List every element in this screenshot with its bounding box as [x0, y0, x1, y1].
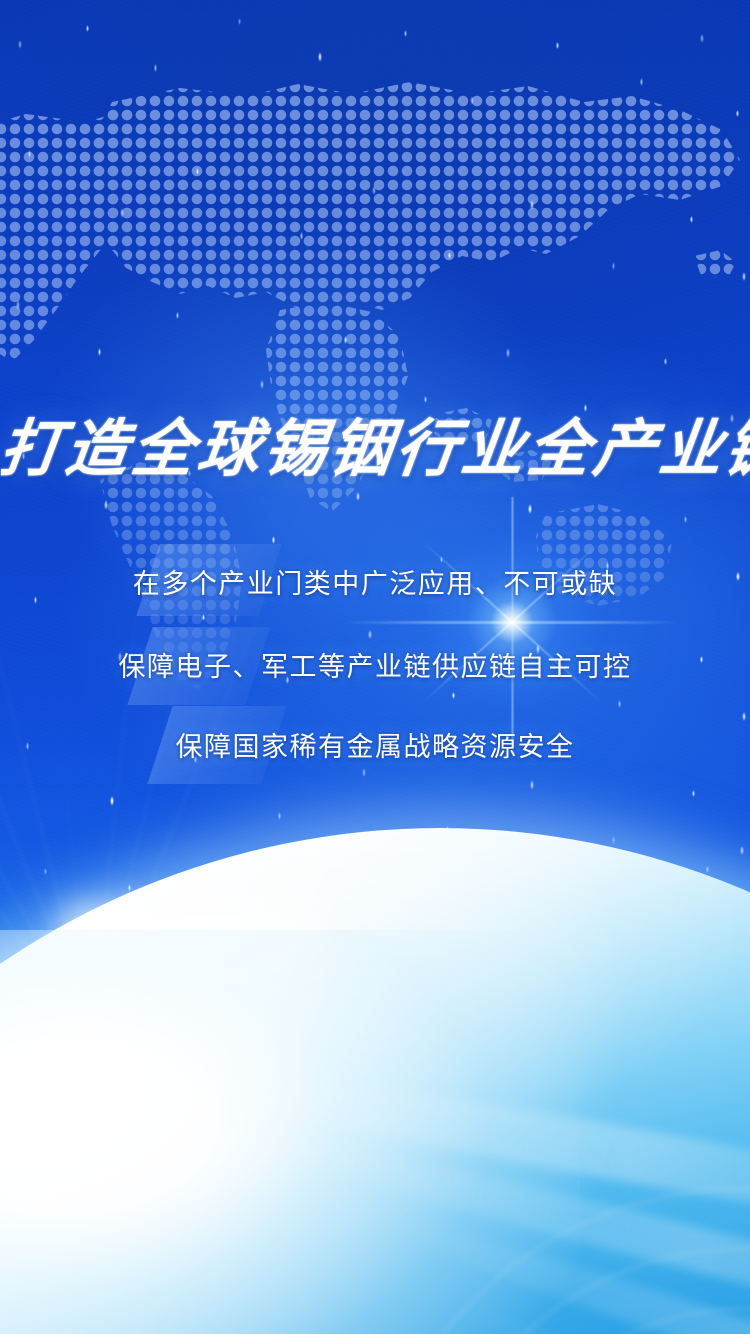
star-particle [362, 768, 366, 777]
subtitle-line-1: 在多个产业门类中广泛应用、不可或缺 [0, 562, 750, 601]
star-particle [506, 348, 510, 358]
star-particle [448, 252, 451, 259]
star-particle [238, 18, 241, 25]
star-particle [16, 300, 20, 310]
star-particle [86, 25, 89, 32]
star-particle [154, 64, 157, 72]
star-particle [470, 96, 474, 105]
star-particle [18, 40, 22, 49]
star-particle [344, 336, 347, 344]
star-particle [530, 780, 534, 790]
star-particle [528, 504, 532, 514]
star-particle [44, 868, 47, 875]
star-particle [684, 516, 687, 523]
star-particle [736, 110, 739, 117]
page-title: 打造全球锡铟行业全产业链链主 [0, 418, 750, 480]
star-particle [424, 396, 427, 403]
star-particle [740, 846, 744, 855]
star-particle [640, 78, 643, 86]
subtitle-line-3: 保障国家稀有金属战略资源安全 [0, 725, 750, 764]
earth-cloud-bands [0, 828, 750, 1334]
star-particle [356, 492, 360, 501]
star-particle [120, 208, 124, 218]
star-particle [300, 232, 303, 240]
star-particle [556, 42, 559, 49]
star-particle [700, 34, 704, 43]
star-particle [706, 866, 709, 873]
star-particle [692, 790, 695, 797]
star-particle [612, 262, 615, 270]
star-particle [28, 150, 31, 158]
star-particle [618, 700, 621, 708]
star-particle [612, 836, 615, 844]
star-particle [196, 168, 199, 175]
star-particle [530, 200, 534, 210]
star-particle [202, 614, 205, 621]
subtitle-line-2: 保障电子、军工等产业链供应链自主可控 [0, 645, 750, 684]
star-particle [742, 272, 746, 281]
star-particle [742, 712, 746, 721]
star-particle [664, 358, 667, 365]
star-particle [176, 312, 179, 319]
poster-canvas: 打造全球锡铟行业全产业链链主 在多个产业门类中广泛应用、不可或缺 保障电子、军工… [0, 0, 750, 1334]
star-particle [104, 500, 108, 510]
star-particle [404, 30, 407, 37]
star-particle [584, 404, 587, 412]
star-particle [98, 348, 101, 356]
star-particle [260, 380, 264, 389]
star-particle [372, 186, 376, 195]
star-particle [278, 812, 281, 820]
star-particle [318, 52, 322, 62]
star-particle [690, 216, 693, 223]
star-particle [368, 630, 372, 639]
star-particle [272, 536, 275, 544]
